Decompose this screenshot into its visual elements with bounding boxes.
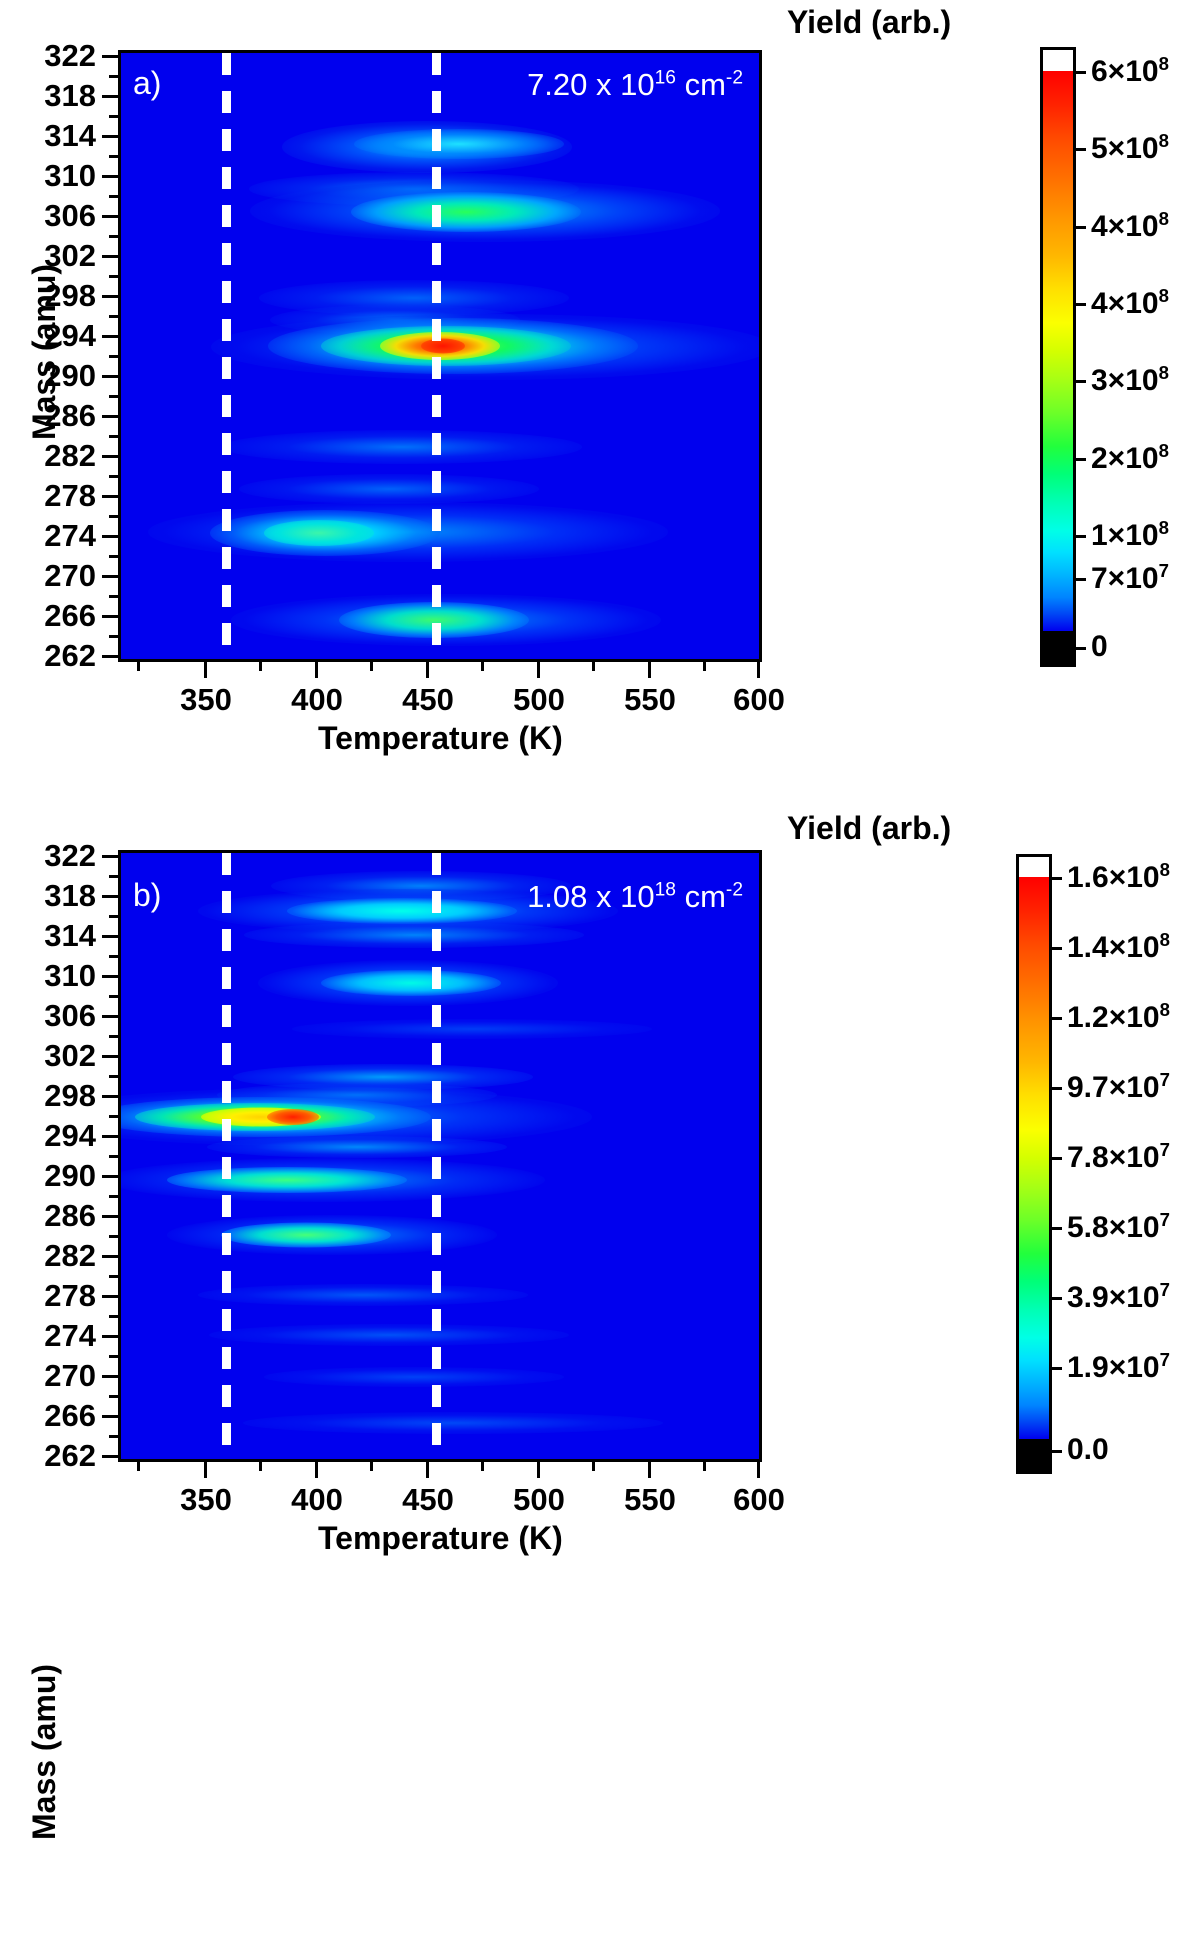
y-tick-label: 270 bbox=[44, 1358, 96, 1394]
heat-blob bbox=[135, 1103, 375, 1131]
colorbar-tick-label: 2×108 bbox=[1091, 440, 1169, 476]
dose-unit-exponent: -2 bbox=[726, 880, 743, 901]
y-tick-major bbox=[102, 1175, 118, 1178]
y-tick-major bbox=[102, 55, 118, 58]
y-tick-major bbox=[102, 95, 118, 98]
heat-blob bbox=[233, 1064, 533, 1090]
colorbar-tick-label: 1.6×108 bbox=[1067, 859, 1170, 895]
y-tick-label: 298 bbox=[44, 1078, 96, 1114]
y-tick-major bbox=[102, 1335, 118, 1338]
colorbar-tick-exponent: 7 bbox=[1160, 1139, 1170, 1160]
y-tick-label: 318 bbox=[44, 78, 96, 114]
colorbar-tick-exponent: 8 bbox=[1159, 130, 1169, 151]
colorbar-tick-exponent: 8 bbox=[1159, 53, 1169, 74]
x-tick-major bbox=[648, 662, 651, 678]
dose-exponent: 16 bbox=[655, 68, 676, 89]
heat-blob bbox=[211, 314, 762, 380]
heat-blob bbox=[167, 1167, 407, 1193]
heat-blob bbox=[209, 1324, 569, 1346]
y-tick-major bbox=[102, 1015, 118, 1018]
heat-blob bbox=[249, 172, 579, 206]
heat-blob bbox=[118, 1088, 592, 1146]
heat-blob bbox=[287, 898, 517, 924]
y-tick-major bbox=[102, 495, 118, 498]
y-tick-minor bbox=[109, 515, 118, 518]
x-tick-label: 400 bbox=[291, 682, 343, 718]
colorbar-tick-exponent: 8 bbox=[1160, 929, 1170, 950]
colorbar-tick-mantissa: 4×10 bbox=[1091, 210, 1159, 243]
colorbar-tick-exponent: 7 bbox=[1159, 560, 1169, 581]
colorbar-tick-mantissa: 3.9×10 bbox=[1067, 1281, 1160, 1314]
panel-b-dose-annotation: 1.08 x 1018 cm-2 bbox=[527, 879, 743, 915]
x-tick-major bbox=[204, 662, 207, 678]
colorbar-tick bbox=[1073, 578, 1086, 581]
y-tick-minor bbox=[109, 395, 118, 398]
colorbar-tick bbox=[1049, 877, 1062, 880]
colorbar-tick bbox=[1049, 1227, 1062, 1230]
colorbar-tick-mantissa: 7.8×10 bbox=[1067, 1141, 1160, 1174]
y-tick-label: 294 bbox=[44, 1118, 96, 1154]
colorbar-tick-mantissa: 5×10 bbox=[1091, 132, 1159, 165]
x-tick-label: 550 bbox=[624, 682, 676, 718]
colorbar-tick-exponent: 8 bbox=[1160, 999, 1170, 1020]
y-tick-minor bbox=[109, 75, 118, 78]
x-tick-label: 450 bbox=[402, 1482, 454, 1518]
colorbar-tick bbox=[1073, 458, 1086, 461]
colorbar-tick-label: 1.2×108 bbox=[1067, 999, 1170, 1035]
heat-blob bbox=[354, 129, 564, 159]
y-tick-major bbox=[102, 255, 118, 258]
colorbar-gradient-under bbox=[1043, 631, 1073, 664]
panel-a: Mass (amu) 322 318 314 310 306 302 298 2… bbox=[0, 0, 1200, 780]
colorbar-tick bbox=[1049, 947, 1062, 950]
x-tick-minor bbox=[703, 662, 706, 671]
colorbar-tick-label: 7×107 bbox=[1091, 560, 1169, 596]
x-tick-label: 350 bbox=[180, 1482, 232, 1518]
y-tick-major bbox=[102, 855, 118, 858]
y-tick-major bbox=[102, 895, 118, 898]
y-tick-major bbox=[102, 1095, 118, 1098]
colorbar-tick-label: 0.0 bbox=[1067, 1433, 1109, 1467]
colorbar-tick-mantissa: 2×10 bbox=[1091, 442, 1159, 475]
colorbar-tick-label: 5.8×107 bbox=[1067, 1209, 1170, 1245]
y-tick-label: 274 bbox=[44, 1318, 96, 1354]
colorbar-tick-exponent: 8 bbox=[1159, 285, 1169, 306]
colorbar-tick-exponent: 7 bbox=[1160, 1279, 1170, 1300]
x-tick-label: 500 bbox=[513, 682, 565, 718]
colorbar-tick bbox=[1073, 535, 1086, 538]
y-tick-minor bbox=[109, 1435, 118, 1438]
y-tick-minor bbox=[109, 235, 118, 238]
heat-blob bbox=[210, 510, 440, 556]
y-tick-label: 262 bbox=[44, 1438, 96, 1474]
y-tick-label: 310 bbox=[44, 158, 96, 194]
y-tick-label: 270 bbox=[44, 558, 96, 594]
y-tick-major bbox=[102, 935, 118, 938]
y-tick-label: 262 bbox=[44, 638, 96, 674]
y-tick-major bbox=[102, 655, 118, 658]
colorbar-tick-mantissa: 1×10 bbox=[1091, 519, 1159, 552]
y-tick-label: 314 bbox=[44, 118, 96, 154]
heat-blob bbox=[268, 318, 638, 374]
y-tick-label: 306 bbox=[44, 998, 96, 1034]
heat-blob bbox=[270, 305, 520, 335]
colorbar-tick bbox=[1073, 380, 1086, 383]
panel-b-heatmap[interactable]: b) 1.08 x 1018 cm-2 bbox=[118, 850, 762, 1462]
y-tick-label: 310 bbox=[44, 958, 96, 994]
x-tick-minor bbox=[592, 662, 595, 671]
colorbar-tick-mantissa: 7×10 bbox=[1091, 562, 1159, 595]
heat-blob bbox=[264, 520, 374, 546]
y-tick-label: 306 bbox=[44, 198, 96, 234]
dose-exponent: 18 bbox=[655, 880, 676, 901]
y-tick-label: 302 bbox=[44, 238, 96, 274]
heat-blob bbox=[118, 1158, 545, 1202]
y-tick-major bbox=[102, 135, 118, 138]
colorbar-tick-exponent: 8 bbox=[1159, 517, 1169, 538]
y-tick-label: 266 bbox=[44, 1398, 96, 1434]
colorbar-tick-mantissa: 6×10 bbox=[1091, 55, 1159, 88]
y-tick-label: 278 bbox=[44, 1278, 96, 1314]
y-tick-major bbox=[102, 215, 118, 218]
y-tick-minor bbox=[109, 195, 118, 198]
colorbar-tick bbox=[1073, 226, 1086, 229]
x-tick-major bbox=[537, 1462, 540, 1478]
colorbar-tick-exponent: 8 bbox=[1159, 208, 1169, 229]
y-tick-major bbox=[102, 1255, 118, 1258]
y-tick-minor bbox=[109, 1355, 118, 1358]
colorbar-tick bbox=[1073, 647, 1086, 650]
panel-b-y-axis-title: Mass (amu) bbox=[26, 1664, 63, 1840]
y-tick-label: 286 bbox=[44, 1198, 96, 1234]
guide-line-356K bbox=[222, 853, 231, 1459]
colorbar-tick-label: 4×108 bbox=[1091, 285, 1169, 321]
colorbar-tick bbox=[1049, 1087, 1062, 1090]
panel-a-dose-annotation: 7.20 x 1016 cm-2 bbox=[527, 67, 743, 103]
colorbar-gradient bbox=[1043, 71, 1073, 632]
heat-blob bbox=[282, 121, 572, 173]
y-tick-minor bbox=[109, 635, 118, 638]
heat-blob bbox=[217, 1083, 497, 1107]
y-tick-major bbox=[102, 1295, 118, 1298]
colorbar-tick-label: 9.7×107 bbox=[1067, 1069, 1170, 1105]
y-tick-major bbox=[102, 375, 118, 378]
y-tick-minor bbox=[109, 875, 118, 878]
x-tick-minor bbox=[703, 1462, 706, 1471]
heat-blob bbox=[244, 922, 584, 948]
heat-blob bbox=[201, 1107, 321, 1126]
y-tick-minor bbox=[109, 315, 118, 318]
colorbar-tick-label: 3.9×107 bbox=[1067, 1279, 1170, 1315]
colorbar-tick-label: 1.9×107 bbox=[1067, 1349, 1170, 1385]
y-tick-minor bbox=[109, 435, 118, 438]
colorbar-tick-mantissa: 9.7×10 bbox=[1067, 1071, 1160, 1104]
panel-b-y-axis: 322 318 314 310 306 302 298 294 290 286 … bbox=[0, 848, 118, 1462]
colorbar-tick-mantissa: 1.2×10 bbox=[1067, 1001, 1160, 1034]
y-tick-minor bbox=[109, 275, 118, 278]
heat-blob bbox=[258, 960, 558, 1006]
dose-unit: cm bbox=[676, 879, 726, 914]
x-tick-minor bbox=[481, 662, 484, 671]
heat-blob bbox=[118, 1097, 431, 1137]
panel-a-colorbar-title: Yield (arb.) bbox=[787, 4, 951, 41]
heat-blob bbox=[231, 594, 661, 646]
x-tick-minor bbox=[259, 662, 262, 671]
panel-b-colorbar-title: Yield (arb.) bbox=[787, 810, 951, 847]
dose-unit-exponent: -2 bbox=[726, 68, 743, 89]
x-tick-label: 550 bbox=[624, 1482, 676, 1518]
heat-blob bbox=[271, 871, 571, 901]
x-tick-label: 450 bbox=[402, 682, 454, 718]
panel-a-heatmap[interactable]: a) 7.20 x 1016 cm-2 bbox=[118, 50, 762, 662]
colorbar-tick bbox=[1049, 1157, 1062, 1160]
colorbar-gradient-over bbox=[1019, 857, 1049, 877]
colorbar-tick-mantissa: 5.8×10 bbox=[1067, 1211, 1160, 1244]
y-tick-label: 302 bbox=[44, 1038, 96, 1074]
y-tick-minor bbox=[109, 955, 118, 958]
x-tick-minor bbox=[259, 1462, 262, 1471]
y-tick-major bbox=[102, 1215, 118, 1218]
y-tick-minor bbox=[109, 1035, 118, 1038]
panel-b-letter: b) bbox=[133, 877, 161, 914]
colorbar-tick-mantissa: 1.4×10 bbox=[1067, 931, 1160, 964]
colorbar-tick-label: 4×108 bbox=[1091, 208, 1169, 244]
y-tick-minor bbox=[109, 355, 118, 358]
y-tick-minor bbox=[109, 595, 118, 598]
colorbar-tick-label: 7.8×107 bbox=[1067, 1139, 1170, 1175]
y-tick-label: 298 bbox=[44, 278, 96, 314]
colorbar-tick-exponent: 7 bbox=[1160, 1069, 1170, 1090]
y-tick-major bbox=[102, 1455, 118, 1458]
y-tick-label: 314 bbox=[44, 918, 96, 954]
guide-line-450K bbox=[432, 53, 441, 659]
y-tick-label: 318 bbox=[44, 878, 96, 914]
y-tick-major bbox=[102, 535, 118, 538]
y-tick-label: 290 bbox=[44, 1158, 96, 1194]
heat-blob bbox=[198, 1284, 528, 1306]
y-tick-label: 278 bbox=[44, 478, 96, 514]
y-tick-label: 274 bbox=[44, 518, 96, 554]
colorbar-tick-exponent: 7 bbox=[1160, 1349, 1170, 1370]
panel-a-x-axis-title: Temperature (K) bbox=[318, 720, 563, 757]
x-tick-major bbox=[315, 662, 318, 678]
x-tick-major bbox=[648, 1462, 651, 1478]
y-tick-minor bbox=[109, 475, 118, 478]
y-tick-minor bbox=[109, 555, 118, 558]
colorbar-tick-mantissa: 4×10 bbox=[1091, 287, 1159, 320]
colorbar-tick-label: 5×108 bbox=[1091, 130, 1169, 166]
x-tick-major bbox=[315, 1462, 318, 1478]
figure-root: Mass (amu) 322 318 314 310 306 302 298 2… bbox=[0, 0, 1200, 1956]
heat-blob bbox=[264, 1367, 564, 1387]
y-tick-major bbox=[102, 415, 118, 418]
heat-blob bbox=[421, 338, 465, 353]
heat-blob bbox=[221, 1222, 391, 1247]
y-tick-minor bbox=[109, 915, 118, 918]
y-tick-major bbox=[102, 175, 118, 178]
colorbar-tick-label: 1×108 bbox=[1091, 517, 1169, 553]
y-tick-major bbox=[102, 1375, 118, 1378]
y-tick-label: 286 bbox=[44, 398, 96, 434]
y-tick-minor bbox=[109, 995, 118, 998]
y-tick-major bbox=[102, 975, 118, 978]
heat-blob bbox=[292, 1019, 652, 1039]
panel-a-colorbar[interactable]: 6×108 5×108 4×108 4×108 3×108 2×108 1×10… bbox=[1040, 47, 1076, 667]
colorbar-gradient-over bbox=[1043, 50, 1073, 71]
x-tick-label: 600 bbox=[733, 1482, 785, 1518]
y-tick-major bbox=[102, 615, 118, 618]
dose-mantissa: 1.08 x 10 bbox=[527, 879, 655, 914]
colorbar-tick-exponent: 8 bbox=[1160, 859, 1170, 880]
x-tick-major bbox=[757, 662, 760, 678]
panel-b-x-axis-title: Temperature (K) bbox=[318, 1520, 563, 1557]
y-tick-major bbox=[102, 1135, 118, 1138]
heat-blob bbox=[321, 326, 571, 366]
colorbar-tick bbox=[1049, 1297, 1062, 1300]
panel-b-colorbar[interactable]: 1.6×108 1.4×108 1.2×108 9.7×107 7.8×107 … bbox=[1016, 854, 1052, 1474]
x-tick-label: 500 bbox=[513, 1482, 565, 1518]
heat-blob bbox=[267, 1109, 319, 1125]
x-tick-minor bbox=[137, 662, 140, 671]
x-tick-label: 400 bbox=[291, 1482, 343, 1518]
heat-blob bbox=[259, 280, 569, 316]
colorbar-tick bbox=[1049, 1450, 1062, 1453]
colorbar-tick-exponent: 7 bbox=[1160, 1209, 1170, 1230]
colorbar-gradient-under bbox=[1019, 1439, 1049, 1471]
x-tick-major bbox=[204, 1462, 207, 1478]
guide-line-450K bbox=[432, 853, 441, 1459]
y-tick-minor bbox=[109, 1075, 118, 1078]
y-tick-minor bbox=[109, 1115, 118, 1118]
y-tick-label: 282 bbox=[44, 1238, 96, 1274]
y-tick-label: 266 bbox=[44, 598, 96, 634]
y-tick-minor bbox=[109, 1235, 118, 1238]
heat-blob bbox=[321, 970, 501, 996]
colorbar-tick bbox=[1049, 1017, 1062, 1020]
heat-blob bbox=[167, 1215, 497, 1255]
colorbar-tick bbox=[1073, 148, 1086, 151]
colorbar-tick bbox=[1073, 303, 1086, 306]
colorbar-tick-label: 6×108 bbox=[1091, 53, 1169, 89]
dose-mantissa: 7.20 x 10 bbox=[527, 67, 655, 102]
x-tick-major bbox=[426, 662, 429, 678]
y-tick-major bbox=[102, 295, 118, 298]
y-tick-label: 322 bbox=[44, 838, 96, 874]
x-tick-label: 600 bbox=[733, 682, 785, 718]
y-tick-major bbox=[102, 455, 118, 458]
heat-blob bbox=[239, 474, 539, 504]
y-tick-minor bbox=[109, 1155, 118, 1158]
colorbar-tick bbox=[1049, 1367, 1062, 1370]
x-tick-minor bbox=[137, 1462, 140, 1471]
x-tick-minor bbox=[592, 1462, 595, 1471]
y-tick-major bbox=[102, 575, 118, 578]
heat-blob bbox=[207, 1136, 507, 1158]
x-tick-major bbox=[537, 662, 540, 678]
heat-blob bbox=[351, 192, 581, 232]
x-tick-label: 350 bbox=[180, 682, 232, 718]
colorbar-tick-label: 3×108 bbox=[1091, 362, 1169, 398]
colorbar-tick-exponent: 8 bbox=[1159, 362, 1169, 383]
heat-blob bbox=[243, 1412, 663, 1434]
colorbar-gradient bbox=[1019, 877, 1049, 1439]
panel-a-letter: a) bbox=[133, 65, 161, 102]
heat-blob bbox=[250, 180, 720, 242]
dose-unit: cm bbox=[676, 67, 726, 102]
y-tick-major bbox=[102, 1415, 118, 1418]
y-tick-label: 282 bbox=[44, 438, 96, 474]
colorbar-tick-label: 1.4×108 bbox=[1067, 929, 1170, 965]
y-tick-minor bbox=[109, 155, 118, 158]
colorbar-tick-mantissa: 3×10 bbox=[1091, 364, 1159, 397]
y-tick-major bbox=[102, 335, 118, 338]
y-tick-major bbox=[102, 1055, 118, 1058]
colorbar-tick-exponent: 8 bbox=[1159, 440, 1169, 461]
colorbar-tick-label: 0 bbox=[1091, 630, 1108, 664]
guide-line-356K bbox=[222, 53, 231, 659]
y-tick-label: 290 bbox=[44, 358, 96, 394]
colorbar-tick bbox=[1073, 71, 1086, 74]
colorbar-tick-mantissa: 1.6×10 bbox=[1067, 861, 1160, 894]
x-tick-minor bbox=[370, 1462, 373, 1471]
x-tick-minor bbox=[370, 662, 373, 671]
y-tick-label: 322 bbox=[44, 38, 96, 74]
y-tick-minor bbox=[109, 1315, 118, 1318]
colorbar-tick-mantissa: 1.9×10 bbox=[1067, 1351, 1160, 1384]
panel-a-y-axis: 322 318 314 310 306 302 298 294 290 286 … bbox=[0, 48, 118, 662]
heat-blob bbox=[222, 430, 582, 464]
x-tick-major bbox=[757, 1462, 760, 1478]
panel-b: Mass (amu) 322 318 314 310 306 302 298 2… bbox=[0, 790, 1200, 1956]
x-tick-major bbox=[426, 1462, 429, 1478]
y-tick-minor bbox=[109, 1395, 118, 1398]
y-tick-minor bbox=[109, 115, 118, 118]
x-tick-minor bbox=[481, 1462, 484, 1471]
y-tick-minor bbox=[109, 1195, 118, 1198]
y-tick-label: 294 bbox=[44, 318, 96, 354]
y-tick-minor bbox=[109, 1275, 118, 1278]
